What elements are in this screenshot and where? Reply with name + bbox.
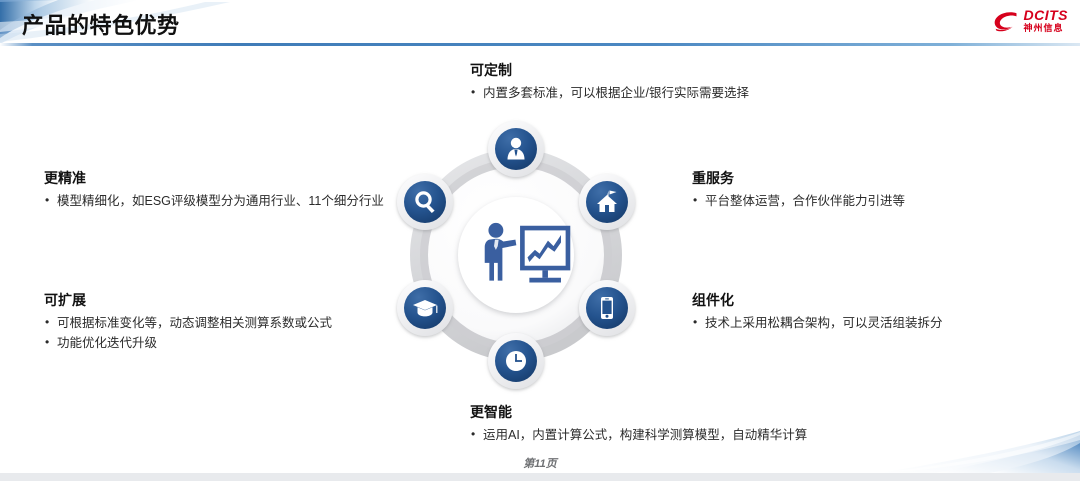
feature-block-customizable: 可定制 内置多套标准，可以根据企业/银行实际需要选择 (470, 62, 890, 104)
bullet-item: 模型精细化，如ESG评级模型分为通用行业、11个细分行业 (44, 192, 384, 211)
logo-text: DCITS 神州信息 (1024, 8, 1069, 33)
diagram-node-mobile[interactable] (579, 280, 635, 336)
diagram-node-search[interactable] (397, 174, 453, 230)
diagram-node-clock[interactable] (488, 333, 544, 389)
feature-title-extensible: 可扩展 (44, 292, 384, 309)
diagram-node-user[interactable] (488, 121, 544, 177)
feature-block-smarter: 更智能 运用AI，内置计算公式，构建科学测算模型，自动精华计算 (470, 404, 970, 446)
diagram-node-home[interactable] (579, 174, 635, 230)
feature-bullets-smarter: 运用AI，内置计算公式，构建科学测算模型，自动精华计算 (470, 426, 970, 445)
page-title: 产品的特色优势 (22, 8, 180, 40)
feature-title-smarter: 更智能 (470, 404, 970, 421)
hub-and-spoke-diagram (383, 112, 649, 398)
swirl-logo-icon (993, 10, 1019, 32)
feature-block-componentized: 组件化 技术上采用松耦合架构，可以灵活组装拆分 (692, 292, 1032, 334)
feature-bullets-accurate: 模型精细化，如ESG评级模型分为通用行业、11个细分行业 (44, 192, 384, 211)
feature-title-customizable: 可定制 (470, 62, 890, 79)
bullet-item: 内置多套标准，可以根据企业/银行实际需要选择 (470, 84, 890, 103)
feature-block-service: 重服务 平台整体运营，合作伙伴能力引进等 (692, 170, 1032, 212)
feature-title-service: 重服务 (692, 170, 1032, 187)
diagram-center (458, 197, 574, 313)
feature-block-extensible: 可扩展 可根据标准变化等，动态调整相关测算系数或公式 功能优化迭代升级 (44, 292, 384, 355)
feature-block-accurate: 更精准 模型精细化，如ESG评级模型分为通用行业、11个细分行业 (44, 170, 384, 212)
feature-bullets-service: 平台整体运营，合作伙伴能力引进等 (692, 192, 1032, 211)
header-divider-rule (0, 43, 1080, 46)
bullet-item: 功能优化迭代升级 (44, 334, 384, 353)
feature-title-componentized: 组件化 (692, 292, 1032, 309)
feature-bullets-extensible: 可根据标准变化等，动态调整相关测算系数或公式 功能优化迭代升级 (44, 314, 384, 354)
bullet-item: 技术上采用松耦合架构，可以灵活组装拆分 (692, 314, 1032, 333)
bullet-item: 平台整体运营，合作伙伴能力引进等 (692, 192, 1032, 211)
company-logo: DCITS 神州信息 (993, 8, 1069, 33)
page-number: 第11页 (0, 455, 1080, 471)
bullet-item: 可根据标准变化等，动态调整相关测算系数或公式 (44, 314, 384, 333)
smartphone-icon (601, 297, 613, 319)
logo-name-cn: 神州信息 (1024, 24, 1069, 33)
feature-bullets-componentized: 技术上采用松耦合架构，可以灵活组装拆分 (692, 314, 1032, 333)
footer-strip (0, 473, 1080, 481)
logo-name-en: DCITS (1024, 8, 1069, 22)
feature-title-accurate: 更精准 (44, 170, 384, 187)
clock-icon (506, 351, 526, 371)
feature-bullets-customizable: 内置多套标准，可以根据企业/银行实际需要选择 (470, 84, 890, 103)
slide: 产品的特色优势 DCITS 神州信息 可定制 内置多套标准，可以根据企业/银行实… (0, 0, 1080, 481)
bullet-item: 运用AI，内置计算公式，构建科学测算模型，自动精华计算 (470, 426, 970, 445)
slide-header: 产品的特色优势 DCITS 神州信息 (0, 0, 1080, 44)
diagram-node-education[interactable] (397, 280, 453, 336)
